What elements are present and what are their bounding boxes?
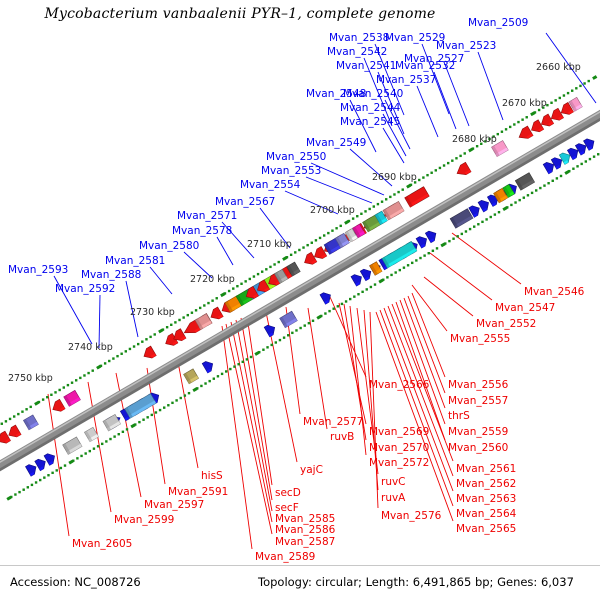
gene-label[interactable]: Mvan_2559: [448, 427, 508, 438]
gene-label[interactable]: hisS: [201, 471, 223, 482]
gene-label[interactable]: Mvan_2564: [456, 509, 516, 520]
gene-label[interactable]: Mvan_2576: [381, 511, 441, 522]
gene-label[interactable]: Mvan_2587: [275, 537, 335, 548]
gene-label[interactable]: Mvan_2537: [376, 75, 436, 86]
gene-label[interactable]: secD: [275, 488, 301, 499]
gene-label[interactable]: Mvan_2560: [448, 443, 508, 454]
status-bar: Accession: NC_008726 Topology: circular;…: [0, 565, 600, 600]
gene-label[interactable]: ruvC: [381, 477, 406, 488]
gene-label[interactable]: Mvan_2538: [329, 33, 389, 44]
ruler-tick-label: 2750 kbp: [8, 374, 53, 384]
gene-label[interactable]: Mvan_2591: [168, 487, 228, 498]
gene-label[interactable]: Mvan_2581: [105, 256, 165, 267]
gene-label[interactable]: Mvan_2599: [114, 515, 174, 526]
ruler-tick-label: 2730 kbp: [130, 308, 175, 318]
gene-label[interactable]: yajC: [300, 465, 323, 476]
gene-label[interactable]: Mvan_2563: [456, 494, 516, 505]
gene-label[interactable]: Mvan_2562: [456, 479, 516, 490]
gene-label[interactable]: Mvan_2580: [139, 241, 199, 252]
topology-text: Topology: circular; Length: 6,491,865 bp…: [258, 575, 574, 589]
gene-label[interactable]: Mvan_2572: [369, 458, 429, 469]
gene-label[interactable]: Mvan_2532: [395, 61, 455, 72]
gene-label[interactable]: Mvan_2557: [448, 396, 508, 407]
gene-label[interactable]: Mvan_2569: [369, 427, 429, 438]
gene-label[interactable]: Mvan_2509: [468, 18, 528, 29]
gene-label[interactable]: Mvan_2542: [327, 47, 387, 58]
gene-label[interactable]: Mvan_2565: [456, 524, 516, 535]
ruler-tick-label: 2740 kbp: [68, 343, 113, 353]
ruler-tick-label: 2690 kbp: [372, 173, 417, 183]
gene-label[interactable]: Mvan_2566: [369, 380, 429, 391]
gene-label[interactable]: Mvan_2570: [369, 443, 429, 454]
gene-label[interactable]: Mvan_2555: [450, 334, 510, 345]
gene-label[interactable]: Mvan_2546: [524, 287, 584, 298]
gene-label[interactable]: secF: [275, 503, 299, 514]
ruler-tick-label: 2710 kbp: [247, 240, 292, 250]
ruler-tick-label: 2720 kbp: [190, 275, 235, 285]
ruler-tick-label: 2670 kbp: [502, 99, 547, 109]
gene-label[interactable]: Mvan_2547: [495, 303, 555, 314]
gene-label[interactable]: Mvan_2545: [340, 117, 400, 128]
gene-label[interactable]: thrS: [448, 411, 470, 422]
gene-label[interactable]: Mvan_2593: [8, 265, 68, 276]
gene-label[interactable]: Mvan_2585: [275, 514, 335, 525]
gene-label[interactable]: Mvan_2541: [336, 61, 396, 72]
gene-label[interactable]: Mvan_2588: [81, 270, 141, 281]
gene-label[interactable]: Mvan_2556: [448, 380, 508, 391]
gene-label[interactable]: Mvan_2550: [266, 152, 326, 163]
gene-label[interactable]: Mvan_2540: [343, 89, 403, 100]
gene-label[interactable]: Mvan_2571: [177, 211, 237, 222]
gene-label[interactable]: ruvB: [330, 432, 354, 443]
accession-text: Accession: NC_008726: [10, 575, 141, 589]
gene-label[interactable]: Mvan_2567: [215, 197, 275, 208]
gene-label[interactable]: Mvan_2605: [72, 539, 132, 550]
gene-label[interactable]: Mvan_2554: [240, 180, 300, 191]
gene-label[interactable]: Mvan_2523: [436, 41, 496, 52]
gene-label[interactable]: Mvan_2552: [476, 319, 536, 330]
gene-label[interactable]: Mvan_2577: [303, 417, 363, 428]
gene-label[interactable]: Mvan_2549: [306, 138, 366, 149]
gene-label[interactable]: Mvan_2578: [172, 226, 232, 237]
gene-label[interactable]: Mvan_2586: [275, 525, 335, 536]
genome-map-canvas: Mycobacterium vanbaalenii PYR–1, complet…: [0, 0, 600, 600]
gene-label[interactable]: Mvan_2561: [456, 464, 516, 475]
gene-label[interactable]: Mvan_2544: [340, 103, 400, 114]
gene-label[interactable]: Mvan_2592: [55, 284, 115, 295]
gene-label[interactable]: Mvan_2589: [255, 552, 315, 563]
ruler-tick-label: 2660 kbp: [536, 63, 581, 73]
gene-label[interactable]: ruvA: [381, 493, 405, 504]
gene-label[interactable]: Mvan_2553: [261, 166, 321, 177]
ruler-tick-label: 2680 kbp: [452, 135, 497, 145]
gene-label[interactable]: Mvan_2597: [144, 500, 204, 511]
ruler-tick-label: 2700 kbp: [310, 206, 355, 216]
